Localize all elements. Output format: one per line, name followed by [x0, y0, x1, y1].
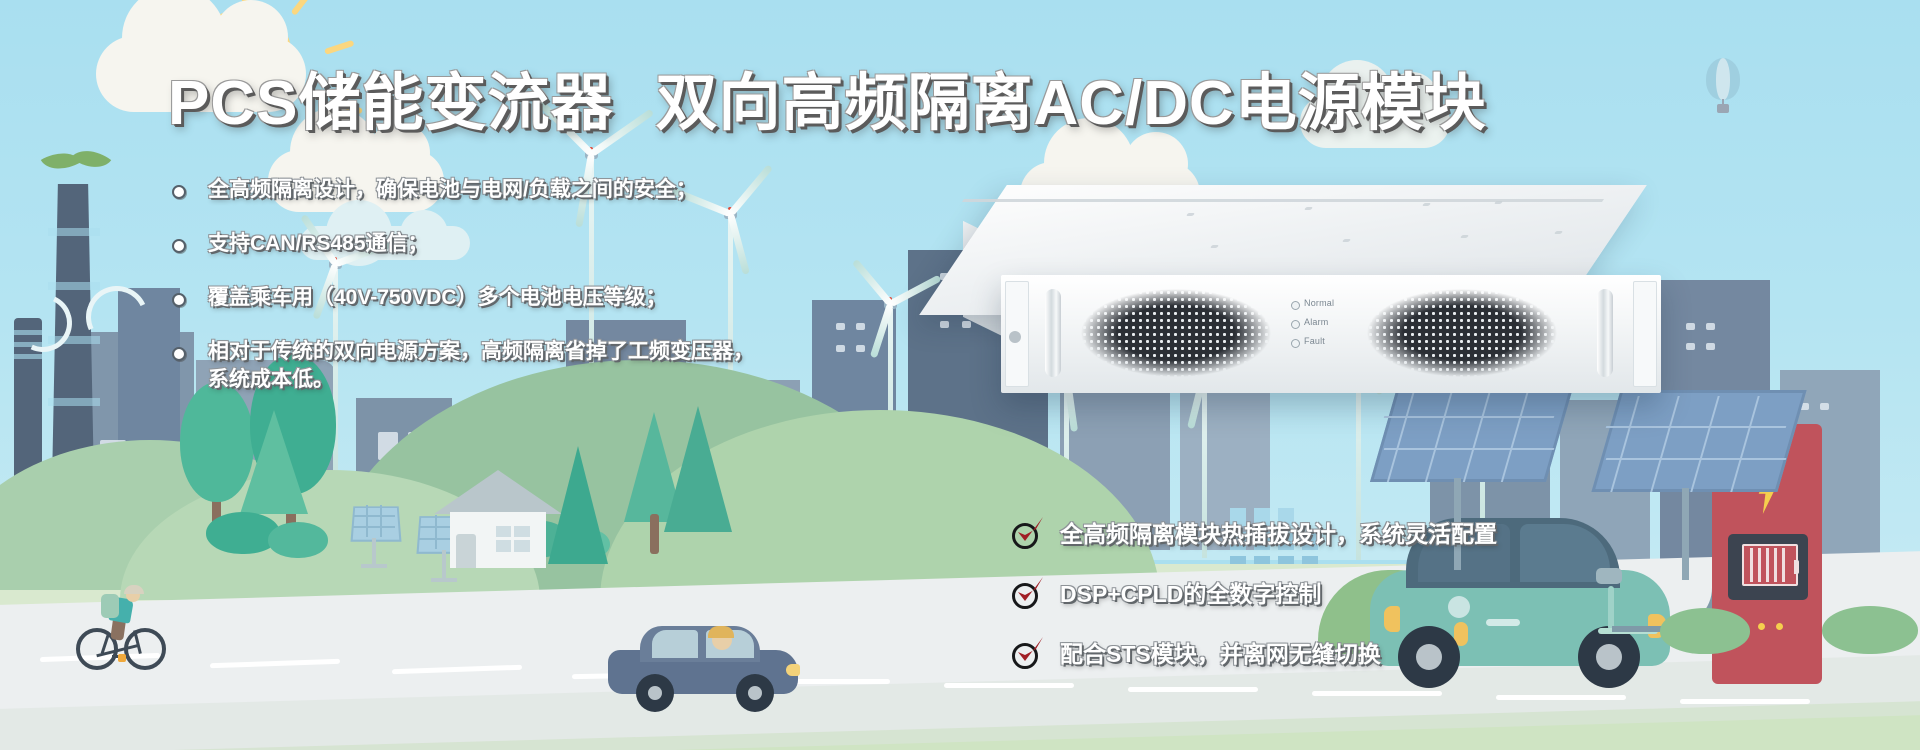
check-circle-icon: [1010, 637, 1044, 671]
list-item: 覆盖乘车用（40V-750VDC）多个电池电压等级；: [172, 284, 892, 312]
pine-tree-icon: [548, 446, 608, 564]
highlight-list: 全高频隔离模块热插拔设计，系统灵活配置 DSP+CPLD的全数字控制 配合STS…: [1010, 515, 1650, 695]
circle-bullet-icon: [172, 239, 186, 253]
led-label-alarm: Alarm: [1304, 317, 1329, 327]
feature-text: 覆盖乘车用（40V-750VDC）多个电池电压等级；: [208, 284, 892, 312]
feature-text-line2: 系统成本低。: [208, 366, 892, 394]
title-main: PCS储能变流器: [168, 69, 613, 138]
circle-bullet-icon: [172, 347, 186, 361]
highlight-text: 配合STS模块，并离网无缝切换: [1060, 635, 1650, 673]
list-item: 全高频隔离模块热插拔设计，系统灵活配置: [1010, 515, 1650, 563]
list-item: DSP+CPLD的全数字控制: [1010, 575, 1650, 623]
circle-bullet-icon: [172, 185, 186, 199]
check-circle-icon: [1010, 517, 1044, 551]
feature-text: 全高频隔离设计，确保电池与电网/负载之间的安全；: [208, 176, 892, 204]
highlight-text: DSP+CPLD的全数字控制: [1060, 575, 1650, 613]
list-item: 配合STS模块，并离网无缝切换: [1010, 635, 1650, 683]
list-item: 全高频隔离设计，确保电池与电网/负载之间的安全；: [172, 176, 892, 204]
pine-tree-icon: [664, 406, 732, 532]
bush-icon: [268, 522, 328, 558]
title-sub: 双向高频隔离AC/DC电源模块: [655, 69, 1486, 138]
led-label-normal: Normal: [1304, 298, 1334, 308]
marketing-banner: Normal Alarm Fault PCS储能变流器双向高频隔离AC/DC电源…: [0, 0, 1920, 750]
check-circle-icon: [1010, 577, 1044, 611]
led-label-fault: Fault: [1304, 336, 1325, 346]
pine-tree-icon: [240, 410, 308, 514]
feature-text: 相对于传统的双向电源方案，高频隔离省掉了工频变压器， 系统成本低。: [208, 338, 892, 394]
bush-icon: [1822, 606, 1918, 654]
list-item: 支持CAN/RS485通信；: [172, 230, 892, 258]
highlight-text: 全高频隔离模块热插拔设计，系统灵活配置: [1060, 515, 1650, 553]
feature-list: 全高频隔离设计，确保电池与电网/负载之间的安全； 支持CAN/RS485通信； …: [172, 176, 892, 420]
tree-trunk: [650, 514, 659, 554]
page-title: PCS储能变流器双向高频隔离AC/DC电源模块: [168, 66, 1348, 142]
circle-bullet-icon: [172, 293, 186, 307]
bush-icon: [1660, 608, 1750, 654]
feature-text: 支持CAN/RS485通信；: [208, 230, 892, 258]
list-item: 相对于传统的双向电源方案，高频隔离省掉了工频变压器， 系统成本低。: [172, 338, 892, 394]
feature-text-line1: 相对于传统的双向电源方案，高频隔离省掉了工频变压器，: [208, 340, 754, 363]
product-device-image: Normal Alarm Fault: [955, 175, 1655, 415]
